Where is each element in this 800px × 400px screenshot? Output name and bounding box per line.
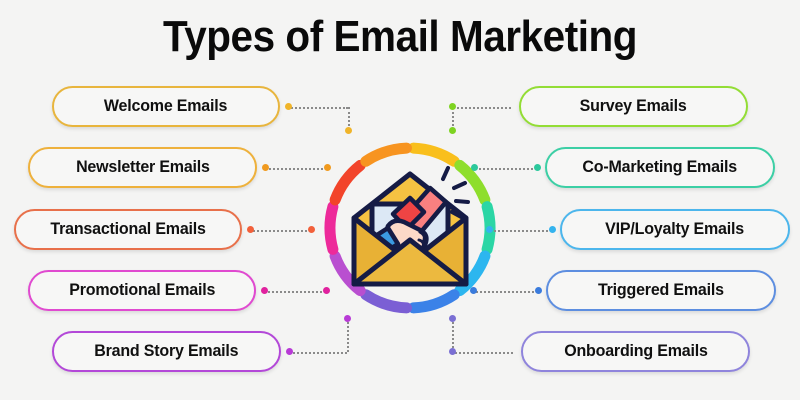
pill-label: Onboarding Emails xyxy=(564,342,707,361)
pill-right-0[interactable]: Survey Emails xyxy=(519,86,748,127)
pill-right-2[interactable]: VIP/Loyalty Emails xyxy=(560,209,790,250)
pill-label: Triggered Emails xyxy=(598,281,724,300)
connector-end-dot xyxy=(449,315,456,322)
pill-left-3[interactable]: Promotional Emails xyxy=(28,270,256,311)
pill-right-3[interactable]: Triggered Emails xyxy=(546,270,776,311)
pill-left-1[interactable]: Newsletter Emails xyxy=(28,147,257,188)
pill-label: Newsletter Emails xyxy=(76,158,210,177)
pill-label: Co-Marketing Emails xyxy=(583,158,738,177)
pill-left-0[interactable]: Welcome Emails xyxy=(52,86,280,127)
pill-label: VIP/Loyalty Emails xyxy=(606,220,745,239)
connector-start-dot xyxy=(449,348,456,355)
infographic-canvas: Types of Email Marketing xyxy=(0,0,800,400)
pill-label: Welcome Emails xyxy=(104,97,227,116)
pill-right-4[interactable]: Onboarding Emails xyxy=(521,331,750,372)
pill-label: Brand Story Emails xyxy=(94,342,238,361)
pill-right-1[interactable]: Co-Marketing Emails xyxy=(545,147,775,188)
pill-left-2[interactable]: Transactional Emails xyxy=(14,209,242,250)
pill-left-4[interactable]: Brand Story Emails xyxy=(52,331,281,372)
pill-label: Survey Emails xyxy=(580,97,687,116)
pill-label: Transactional Emails xyxy=(50,220,205,239)
pill-label: Promotional Emails xyxy=(69,281,215,300)
connector-horizontal-segment xyxy=(452,352,513,354)
connector-vertical-segment xyxy=(452,318,454,352)
